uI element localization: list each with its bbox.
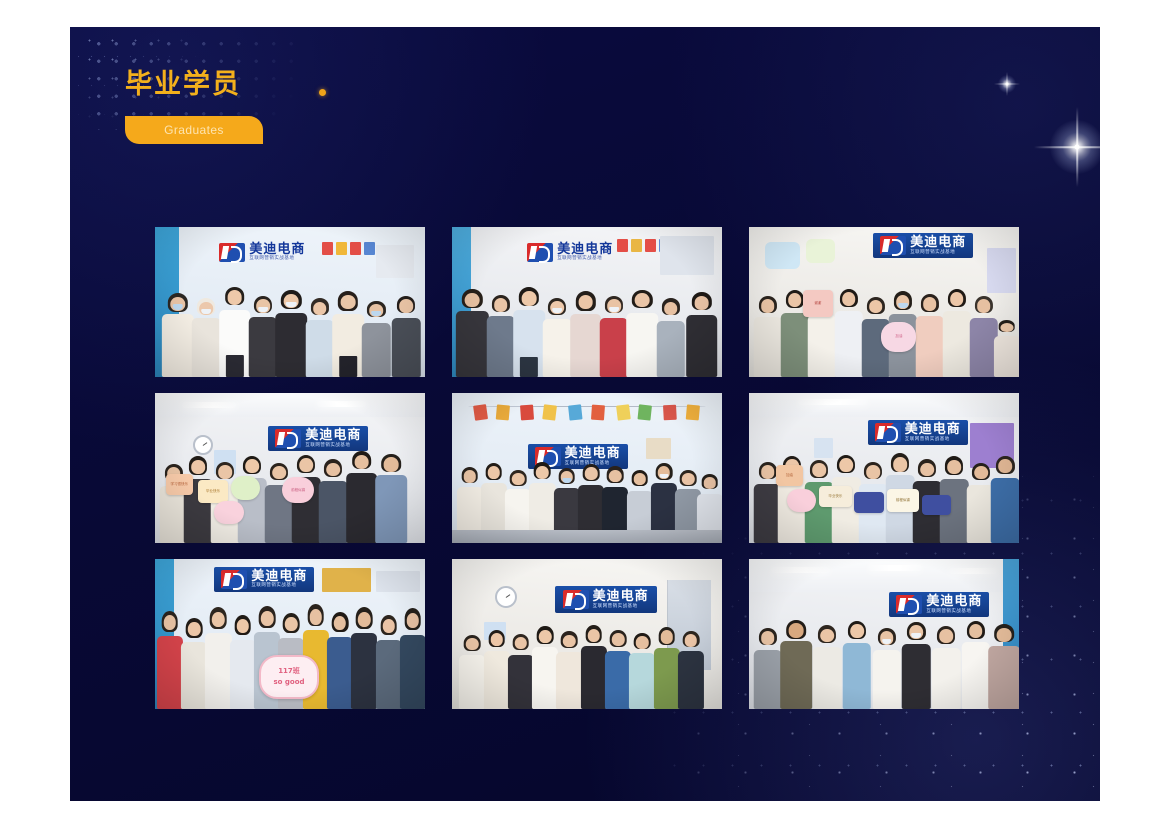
person: [992, 319, 1019, 377]
page-title: 毕业学员: [125, 71, 263, 98]
brand-tagline: 互联网营销实战基地: [905, 438, 961, 443]
person: [987, 623, 1019, 709]
gallery-photo-5[interactable]: 美迪电商 互联网营销实战基地: [452, 393, 722, 543]
graduates-badge[interactable]: Graduates: [125, 116, 263, 144]
brand-tagline: 互联网营销实战基地: [305, 444, 361, 449]
brand-tagline: 互联网营销实战基地: [251, 584, 307, 589]
hero-panel: 毕业学员 Graduates 美迪电商 互联网营销实战基地: [70, 27, 1100, 801]
wall-poster: [765, 242, 800, 269]
brand-name: 美迪电商: [593, 590, 649, 603]
wall-flags-icon: [322, 242, 375, 255]
brand-tagline: 互联网营销实战基地: [926, 610, 982, 615]
wall-poster: [660, 236, 714, 275]
md-logo-icon: [221, 570, 247, 589]
person: [989, 455, 1019, 543]
sparkle-star-icon: [1032, 102, 1100, 192]
person: [390, 293, 422, 377]
person: [360, 297, 392, 377]
people-group: [452, 622, 722, 709]
wall-poster: [376, 245, 414, 278]
md-logo-icon: [275, 429, 301, 448]
held-sign: [787, 489, 817, 512]
wall-poster: [646, 438, 670, 459]
md-brand-banner: 美迪电商 互联网营销实战基地: [555, 586, 657, 613]
held-sign: 学习很快乐: [166, 474, 193, 495]
held-sign: 谢谢: [803, 290, 833, 317]
gallery-photo-8[interactable]: 美迪电商 互联网营销实战基地: [452, 559, 722, 709]
brand-name: 美迪电商: [305, 429, 361, 442]
wall-poster: [376, 571, 419, 592]
held-sign: [231, 476, 261, 500]
wall-poster: [322, 568, 371, 592]
held-sign: 加油: [881, 322, 916, 352]
people-group: [749, 616, 1019, 709]
bunting-flags-icon: [468, 405, 706, 431]
held-sign: 毕业快乐: [819, 486, 851, 507]
person: [779, 619, 814, 709]
person: [655, 295, 687, 377]
held-sign: 加油: [776, 465, 803, 486]
page-root: 毕业学员 Graduates 美迪电商 互联网营销实战基地: [0, 0, 1170, 827]
gallery-photo-1[interactable]: 美迪电商 互联网营销实战基地: [155, 227, 425, 377]
ceiling-light-icon: [771, 567, 830, 573]
person: [811, 623, 843, 709]
md-brand-banner: 美迪电商 互联网营销实战基地: [214, 567, 314, 592]
held-sign: [214, 501, 244, 524]
sign-line-1: 117班: [278, 666, 300, 677]
md-logo-icon: [563, 590, 589, 609]
held-sign: 毕业快乐: [198, 480, 228, 503]
floor: [452, 530, 722, 544]
ceiling-light-icon: [798, 399, 868, 405]
md-logo-icon: [527, 243, 553, 262]
ceiling: [749, 393, 1019, 417]
brand-tagline: 互联网营销实战基地: [910, 251, 966, 256]
orange-accent-dot-icon: [319, 89, 326, 96]
person: [841, 620, 873, 709]
person: [676, 629, 706, 709]
brand-name: 美迪电商: [926, 595, 982, 608]
people-group: [155, 284, 425, 377]
person: [684, 291, 719, 377]
gallery-photo-9[interactable]: 美迪电商 互联网营销实战基地: [749, 559, 1019, 709]
brand-name: 美迪电商: [251, 570, 307, 583]
small-star-icon: [990, 67, 1024, 101]
md-logo-icon: [219, 243, 245, 262]
people-group: [452, 284, 722, 377]
gallery-photo-7[interactable]: 美迪电商 互联网营销实战基地: [155, 559, 425, 709]
ceiling: [749, 559, 1019, 592]
brand-name: 美迪电商: [557, 243, 613, 256]
badge-wrapper: Graduates: [125, 116, 263, 144]
md-logo-icon: [880, 236, 906, 255]
md-brand-banner: 美迪电商 互联网营销实战基地: [214, 241, 310, 264]
ceiling-light-icon: [949, 568, 998, 574]
brand-tagline: 互联网营销实战基地: [249, 257, 305, 262]
gallery-photo-3[interactable]: 美迪电商 互联网营销实战基地: [749, 227, 1019, 377]
section-header: 毕业学员 Graduates: [125, 71, 263, 144]
person: [900, 621, 932, 709]
person: [871, 625, 903, 709]
held-sign: [854, 492, 884, 513]
md-logo-icon: [896, 595, 922, 614]
wall-poster: [806, 239, 836, 263]
photo-gallery-grid: 美迪电商 互联网营销实战基地: [155, 227, 1019, 709]
class-117-sign: 117班 so good: [259, 655, 319, 699]
held-sign: 前程似锦: [282, 477, 314, 503]
md-brand-banner: 美迪电商 互联网营销实战基地: [889, 592, 989, 617]
md-brand-banner: 美迪电商 互联网营销实战基地: [268, 426, 368, 451]
brand-name: 美迪电商: [910, 236, 966, 249]
md-logo-icon: [875, 423, 901, 442]
person: [374, 453, 409, 543]
brand-name: 美迪电商: [249, 243, 305, 256]
md-brand-banner: 美迪电商 互联网营销实战基地: [868, 420, 968, 445]
person: [398, 607, 425, 709]
brand-tagline: 互联网营销实战基地: [593, 605, 649, 610]
held-sign: 前程似锦: [887, 489, 919, 512]
gallery-photo-6[interactable]: 美迪电商 互联网营销实战基地: [749, 393, 1019, 543]
ceiling-light-icon: [868, 565, 922, 571]
brand-name: 美迪电商: [905, 423, 961, 436]
gallery-photo-4[interactable]: 美迪电商 互联网营销实战基地: [155, 393, 425, 543]
brand-tagline: 互联网营销实战基地: [557, 257, 613, 262]
ceiling-light-icon: [182, 402, 236, 408]
md-brand-banner: 美迪电商 互联网营销实战基地: [522, 241, 618, 264]
held-sign: [922, 495, 952, 515]
md-brand-banner: 美迪电商 互联网营销实战基地: [873, 233, 973, 258]
person: [930, 624, 962, 709]
sign-line-2: so good: [273, 677, 304, 688]
gallery-photo-2[interactable]: 美迪电商 互联网营销实战基地: [452, 227, 722, 377]
ceiling-light-icon: [317, 401, 366, 407]
